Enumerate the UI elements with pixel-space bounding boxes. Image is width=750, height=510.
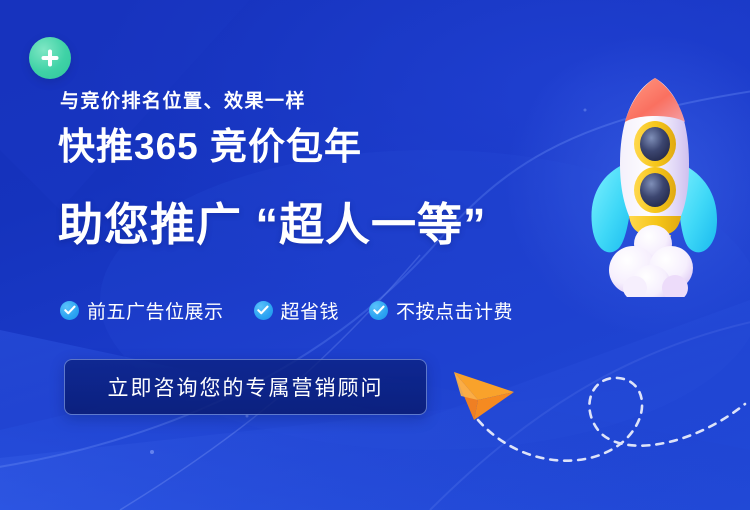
banner-headline-main: 助您推广 “超人一等” xyxy=(58,200,487,250)
feature-list: 前五广告位展示 超省钱 不按点击计费 xyxy=(60,297,513,324)
check-circle-icon xyxy=(254,301,273,320)
feature-label: 不按点击计费 xyxy=(396,297,513,324)
feature-item: 不按点击计费 xyxy=(369,297,513,324)
feature-label: 前五广告位展示 xyxy=(87,297,224,324)
feature-item: 前五广告位展示 xyxy=(60,297,224,324)
banner-subtitle: 与竞价排名位置、效果一样 xyxy=(60,86,306,113)
banner-headline: 快推365 竞价包年 xyxy=(58,127,362,168)
banner-content: 与竞价排名位置、效果一样 快推365 竞价包年 助您推广 “超人一等” 前五广告… xyxy=(0,0,750,510)
check-circle-icon xyxy=(60,301,79,320)
consult-cta-button[interactable]: 立即咨询您的专属营销顾问 xyxy=(64,359,427,415)
promo-banner: 与竞价排名位置、效果一样 快推365 竞价包年 助您推广 “超人一等” 前五广告… xyxy=(0,0,750,510)
check-circle-icon xyxy=(369,301,388,320)
feature-item: 超省钱 xyxy=(254,297,340,324)
consult-cta-label: 立即咨询您的专属营销顾问 xyxy=(108,372,384,402)
feature-label: 超省钱 xyxy=(281,297,340,324)
